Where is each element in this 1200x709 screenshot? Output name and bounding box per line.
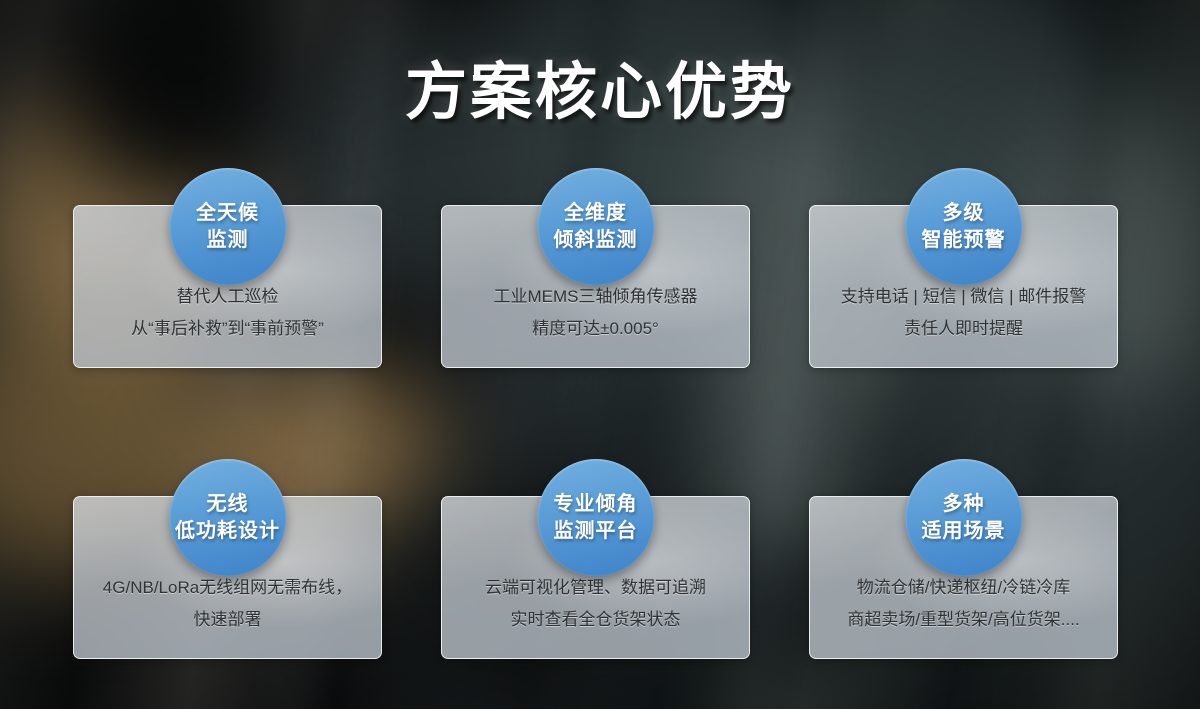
- card-body-line: 4G/NB/LoRa无线组网无需布线，: [84, 572, 371, 604]
- card-badge-line: 智能预警: [922, 227, 1006, 254]
- card-body-line: 云端可视化管理、数据可追溯: [452, 572, 739, 604]
- card-badge-circle[interactable]: 专业倾角 监测平台: [537, 459, 654, 576]
- card-body-text: 替代人工巡检 从“事后补救”到“事前预警”: [84, 281, 371, 345]
- feature-row-bottom: 4G/NB/LoRa无线组网无需布线， 快速部署 无线 低功耗设计 云端可视化管…: [73, 459, 1119, 659]
- card-body-text: 物流仓储/快递枢纽/冷链冷库 商超卖场/重型货架/高位货架....: [820, 572, 1107, 636]
- card-body-line: 责任人即时提醒: [820, 313, 1107, 345]
- card-badge-line: 监测平台: [554, 518, 638, 545]
- card-badge-circle[interactable]: 全天候 监测: [169, 168, 286, 285]
- card-body-text: 4G/NB/LoRa无线组网无需布线， 快速部署: [84, 572, 371, 636]
- card-badge-line: 无线: [207, 491, 249, 518]
- card-badge-line: 适用场景: [922, 518, 1006, 545]
- feature-card-2[interactable]: 工业MEMS三轴倾角传感器 精度可达±0.005° 全维度 倾斜监测: [441, 168, 750, 368]
- card-body-line: 快速部署: [84, 604, 371, 636]
- card-body-text: 工业MEMS三轴倾角传感器 精度可达±0.005°: [452, 281, 739, 345]
- card-badge-circle[interactable]: 全维度 倾斜监测: [537, 168, 654, 285]
- card-body-line: 实时查看全仓货架状态: [452, 604, 739, 636]
- card-body-text: 支持电话 | 短信 | 微信 | 邮件报警 责任人即时提醒: [820, 281, 1107, 345]
- feature-card-5[interactable]: 云端可视化管理、数据可追溯 实时查看全仓货架状态 专业倾角 监测平台: [441, 459, 750, 659]
- feature-card-3[interactable]: 支持电话 | 短信 | 微信 | 邮件报警 责任人即时提醒 多级 智能预警: [809, 168, 1118, 368]
- card-badge-line: 多种: [943, 491, 985, 518]
- card-badge-line: 监测: [207, 227, 249, 254]
- card-badge-line: 全天候: [196, 200, 259, 227]
- card-badge-line: 专业倾角: [554, 491, 638, 518]
- page-title: 方案核心优势: [0, 41, 1200, 131]
- card-body-line: 精度可达±0.005°: [452, 313, 739, 345]
- feature-card-4[interactable]: 4G/NB/LoRa无线组网无需布线， 快速部署 无线 低功耗设计: [73, 459, 382, 659]
- feature-grid: 替代人工巡检 从“事后补救”到“事前预警” 全天候 监测 工业MEMS三轴倾角传…: [73, 168, 1119, 659]
- card-body-line: 商超卖场/重型货架/高位货架....: [820, 604, 1107, 636]
- card-body-line: 替代人工巡检: [84, 281, 371, 313]
- card-body-line: 从“事后补救”到“事前预警”: [84, 313, 371, 345]
- card-badge-line: 多级: [943, 200, 985, 227]
- card-body-line: 支持电话 | 短信 | 微信 | 邮件报警: [820, 281, 1107, 313]
- card-badge-line: 倾斜监测: [554, 227, 638, 254]
- card-body-line: 物流仓储/快递枢纽/冷链冷库: [820, 572, 1107, 604]
- card-badge-circle[interactable]: 多级 智能预警: [905, 168, 1022, 285]
- card-badge-line: 全维度: [564, 200, 627, 227]
- card-body-text: 云端可视化管理、数据可追溯 实时查看全仓货架状态: [452, 572, 739, 636]
- card-badge-circle[interactable]: 多种 适用场景: [905, 459, 1022, 576]
- feature-row-top: 替代人工巡检 从“事后补救”到“事前预警” 全天候 监测 工业MEMS三轴倾角传…: [73, 168, 1119, 368]
- card-badge-circle[interactable]: 无线 低功耗设计: [169, 459, 286, 576]
- feature-card-1[interactable]: 替代人工巡检 从“事后补救”到“事前预警” 全天候 监测: [73, 168, 382, 368]
- feature-card-6[interactable]: 物流仓储/快递枢纽/冷链冷库 商超卖场/重型货架/高位货架.... 多种 适用场…: [809, 459, 1118, 659]
- card-badge-line: 低功耗设计: [175, 518, 280, 545]
- slide-root: 方案核心优势 替代人工巡检 从“事后补救”到“事前预警” 全天候 监测: [0, 0, 1200, 709]
- card-body-line: 工业MEMS三轴倾角传感器: [452, 281, 739, 313]
